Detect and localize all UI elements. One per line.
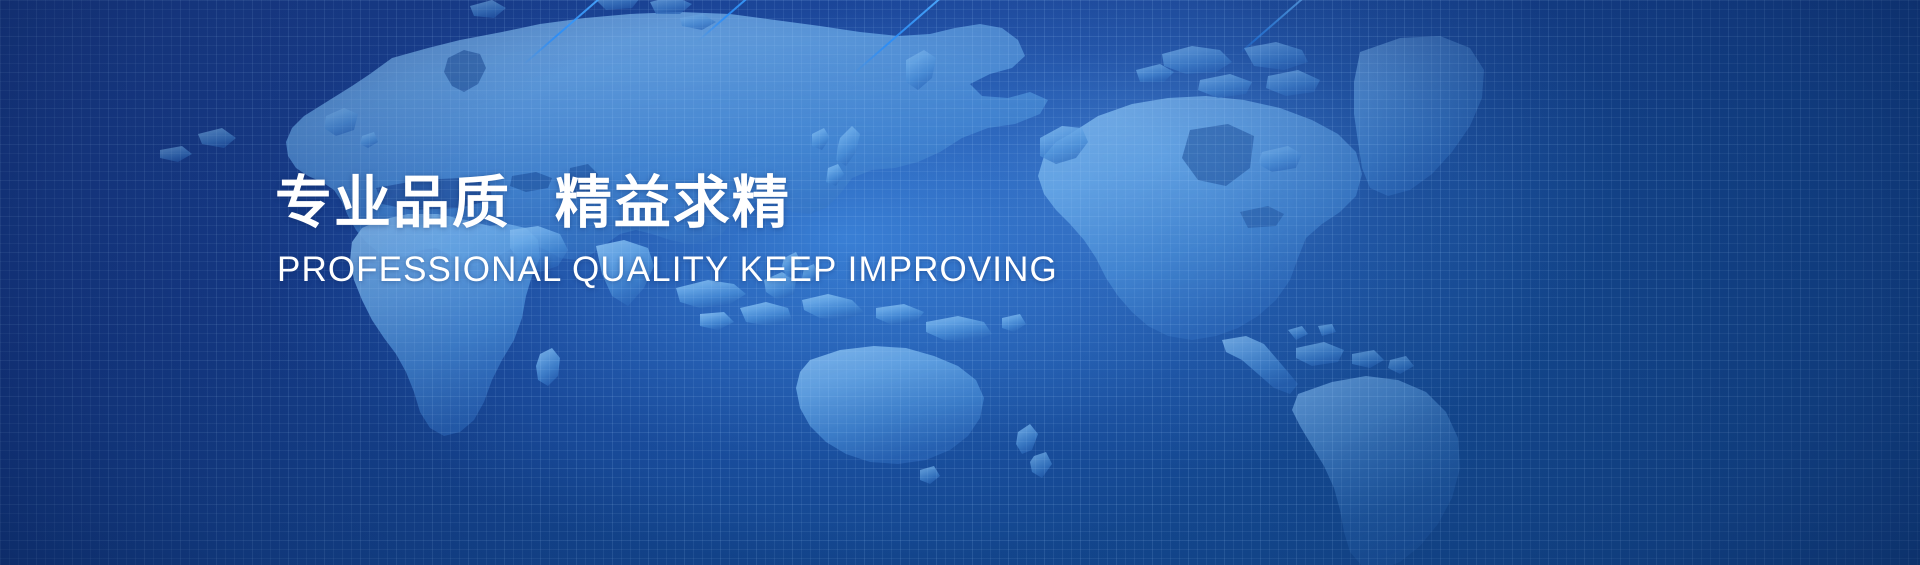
- headline-block: 专业品质 精益求精 PROFESSIONAL QUALITY KEEP IMPR…: [275, 170, 1058, 290]
- headline-english: PROFESSIONAL QUALITY KEEP IMPROVING: [277, 251, 1058, 290]
- hero-banner: 专业品质 精益求精 PROFESSIONAL QUALITY KEEP IMPR…: [0, 0, 1920, 565]
- headline-chinese: 专业品质 精益求精: [275, 170, 1058, 237]
